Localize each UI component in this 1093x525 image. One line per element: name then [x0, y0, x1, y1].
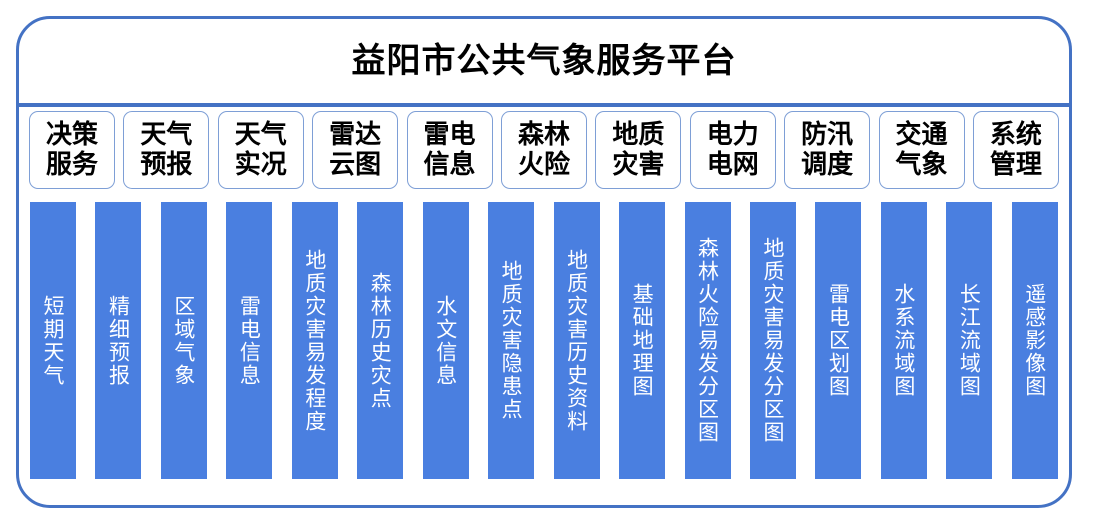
menu-button-7[interactable]: 地质灾害 — [595, 111, 681, 189]
menu-button-label-line2: 信息 — [424, 150, 476, 180]
menu-button-8[interactable]: 电力电网 — [690, 111, 776, 189]
module-bar-label: 地质灾害历史资料 — [565, 249, 589, 433]
menu-button-label-line1: 交通 — [896, 120, 948, 150]
menu-button-4[interactable]: 雷达云图 — [312, 111, 398, 189]
module-bar-14[interactable]: 水系流域图 — [881, 202, 927, 479]
menu-button-label-line1: 天气 — [140, 120, 192, 150]
menu-button-label-line2: 云图 — [329, 150, 381, 180]
module-bar-1[interactable]: 短期天气 — [30, 202, 76, 479]
module-bar-label: 长江流域图 — [957, 283, 981, 398]
menu-button-label-line2: 电网 — [707, 150, 759, 180]
menu-button-label-line1: 雷电 — [424, 120, 476, 150]
platform-frame: 益阳市公共气象服务平台 决策服务天气预报天气实况雷达云图雷电信息森林火险地质灾害… — [16, 16, 1072, 508]
menu-button-label-line1: 防汛 — [801, 120, 853, 150]
title-divider — [19, 103, 1069, 107]
module-bar-label: 地质灾害易发分区图 — [761, 237, 785, 444]
menu-button-label-line1: 系统 — [990, 120, 1042, 150]
menu-button-3[interactable]: 天气实况 — [218, 111, 304, 189]
module-bar-label: 森林火险易发分区图 — [696, 237, 720, 444]
module-bar-label: 水文信息 — [434, 295, 458, 387]
menu-button-label-line2: 灾害 — [612, 150, 664, 180]
module-bar-16[interactable]: 遥感影像图 — [1012, 202, 1058, 479]
menu-button-2[interactable]: 天气预报 — [123, 111, 209, 189]
module-bar-list: 短期天气精细预报区域气象雷电信息地质灾害易发程度森林历史灾点水文信息地质灾害隐患… — [30, 202, 1058, 479]
menu-button-label-line1: 电力 — [707, 120, 759, 150]
main-menu-bar: 决策服务天气预报天气实况雷达云图雷电信息森林火险地质灾害电力电网防汛调度交通气象… — [27, 111, 1061, 189]
module-bar-9[interactable]: 地质灾害历史资料 — [554, 202, 600, 479]
module-bar-label: 区域气象 — [172, 295, 196, 387]
module-bar-label: 短期天气 — [41, 295, 65, 387]
module-bar-7[interactable]: 水文信息 — [423, 202, 469, 479]
module-bar-label: 地质灾害隐患点 — [499, 260, 523, 421]
module-bar-3[interactable]: 区域气象 — [161, 202, 207, 479]
menu-button-label-line2: 实况 — [235, 150, 287, 180]
module-bar-10[interactable]: 基础地理图 — [619, 202, 665, 479]
module-bar-label: 水系流域图 — [892, 283, 916, 398]
module-bar-5[interactable]: 地质灾害易发程度 — [292, 202, 338, 479]
menu-button-label-line2: 预报 — [140, 150, 192, 180]
title-band: 益阳市公共气象服务平台 — [19, 19, 1069, 103]
module-bar-label: 地质灾害易发程度 — [303, 249, 327, 433]
menu-button-label-line2: 服务 — [46, 150, 98, 180]
menu-button-5[interactable]: 雷电信息 — [407, 111, 493, 189]
menu-button-11[interactable]: 系统管理 — [973, 111, 1059, 189]
module-bar-12[interactable]: 地质灾害易发分区图 — [750, 202, 796, 479]
module-bar-label: 雷电区划图 — [826, 283, 850, 398]
menu-button-label-line1: 天气 — [235, 120, 287, 150]
menu-button-label-line2: 火险 — [518, 150, 570, 180]
menu-button-6[interactable]: 森林火险 — [501, 111, 587, 189]
menu-button-label-line1: 决策 — [46, 120, 98, 150]
menu-button-9[interactable]: 防汛调度 — [784, 111, 870, 189]
module-bar-15[interactable]: 长江流域图 — [946, 202, 992, 479]
module-bar-label: 森林历史灾点 — [368, 272, 392, 410]
menu-button-10[interactable]: 交通气象 — [879, 111, 965, 189]
menu-button-label-line2: 调度 — [801, 150, 853, 180]
page-title: 益阳市公共气象服务平台 — [352, 44, 737, 78]
menu-button-label-line2: 气象 — [896, 150, 948, 180]
menu-button-label-line2: 管理 — [990, 150, 1042, 180]
menu-button-1[interactable]: 决策服务 — [29, 111, 115, 189]
module-bar-label: 雷电信息 — [237, 295, 261, 387]
module-bar-8[interactable]: 地质灾害隐患点 — [488, 202, 534, 479]
module-bar-13[interactable]: 雷电区划图 — [815, 202, 861, 479]
module-bar-4[interactable]: 雷电信息 — [226, 202, 272, 479]
menu-button-label-line1: 森林 — [518, 120, 570, 150]
module-bar-11[interactable]: 森林火险易发分区图 — [685, 202, 731, 479]
module-bar-label: 精细预报 — [106, 295, 130, 387]
module-bar-label: 遥感影像图 — [1023, 283, 1047, 398]
menu-button-label-line1: 雷达 — [329, 120, 381, 150]
module-bar-6[interactable]: 森林历史灾点 — [357, 202, 403, 479]
module-bar-2[interactable]: 精细预报 — [95, 202, 141, 479]
menu-button-label-line1: 地质 — [612, 120, 664, 150]
module-bar-label: 基础地理图 — [630, 283, 654, 398]
